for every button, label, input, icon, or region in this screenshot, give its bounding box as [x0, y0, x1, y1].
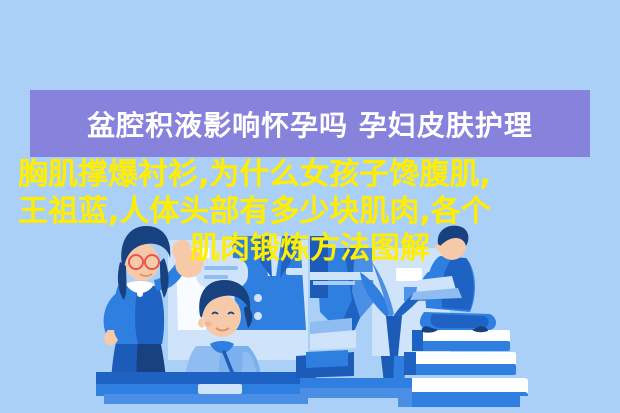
illustration	[0, 0, 620, 413]
book-stack	[398, 330, 528, 407]
shelf-block	[310, 236, 328, 298]
thumbnail-canvas: 盆腔积液影响怀孕吗 孕妇皮肤护理 胸肌撑爆衬衫,为什么女孩子馋腹肌, 王祖蓝,人…	[0, 0, 620, 413]
desk-paper	[198, 384, 242, 394]
page-title: 盆腔积液影响怀孕吗 孕妇皮肤护理	[30, 90, 590, 157]
